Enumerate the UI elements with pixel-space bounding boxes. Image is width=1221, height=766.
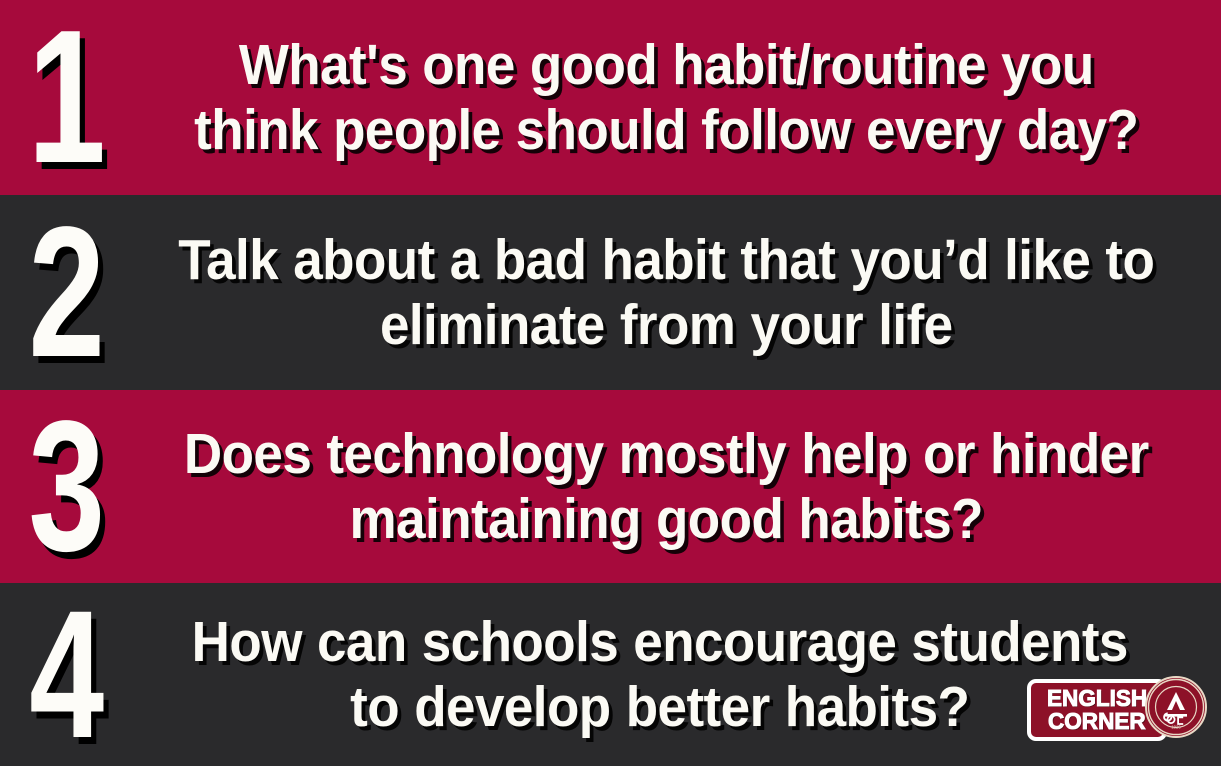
question-number-3: 3 xyxy=(17,407,115,567)
question-number-4: 4 xyxy=(17,596,115,753)
university-seal-icon: 1926 xyxy=(1145,676,1207,738)
question-row-3: 3 Does technology mostly help or hinder … xyxy=(0,390,1221,583)
svg-text:1926: 1926 xyxy=(1171,725,1181,730)
question-text-3: Does technology mostly help or hinder ma… xyxy=(170,422,1183,552)
question-row-1: 1 What's one good habit/routine you thin… xyxy=(0,0,1221,195)
question-text-1: What's one good habit/routine you think … xyxy=(170,33,1183,163)
logo-line-english: ENGLISH xyxy=(1047,687,1147,710)
english-corner-logo: ENGLISH CORNER 1926 xyxy=(1027,676,1209,744)
habits-question-poster: 1 What's one good habit/routine you thin… xyxy=(0,0,1221,766)
question-text-2: Talk about a bad habit that you’d like t… xyxy=(170,228,1183,358)
question-number-1: 1 xyxy=(17,16,115,179)
question-number-2: 2 xyxy=(17,213,115,373)
question-row-2: 2 Talk about a bad habit that you’d like… xyxy=(0,195,1221,390)
logo-line-corner: CORNER xyxy=(1048,710,1146,733)
